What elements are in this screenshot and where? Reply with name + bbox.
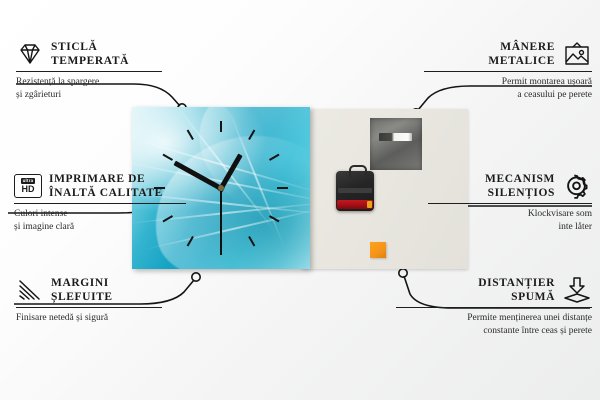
feature-rule	[428, 203, 592, 204]
feature-rule	[424, 71, 592, 72]
feature-desc-line1: Permite menținerea unei distanțe	[392, 312, 592, 325]
feature-foam-spacer: DISTANȚIER SPUMĂ Permite menținerea unei…	[392, 276, 592, 338]
feature-desc-line1: Rezistență la spargere	[16, 76, 166, 89]
hour-tick	[220, 121, 222, 132]
feature-head: MARGINI ȘLEFUITE	[16, 276, 166, 304]
aa-battery	[337, 200, 373, 209]
gear-icon	[562, 173, 592, 199]
feature-title: STICLĂ TEMPERATĂ	[51, 40, 129, 68]
hd-label: HD	[22, 184, 35, 194]
feature-desc-line1: Culori intense	[14, 208, 190, 221]
second-hand	[220, 185, 222, 247]
feature-title: MARGINI ȘLEFUITE	[51, 276, 113, 304]
infographic-stage: STICLĂ TEMPERATĂ Rezistență la spargere …	[0, 0, 600, 400]
hour-tick	[277, 187, 288, 189]
arrow-down-pad-icon	[562, 276, 592, 304]
feature-desc-line2: constante între ceas și perete	[392, 325, 592, 338]
feature-title: DISTANȚIER SPUMĂ	[478, 276, 555, 304]
feature-head: ultra HD IMPRIMARE DE ÎNALTĂ CALITATE	[14, 172, 190, 200]
feature-desc-line2: a ceasului pe perete	[420, 89, 592, 102]
feature-desc-line1: Permit montarea ușoară	[420, 76, 592, 89]
feature-title: MÂNERE METALICE	[488, 40, 555, 68]
ultra-hd-icon: ultra HD	[14, 174, 42, 198]
feature-title: MECANISM SILENȚIOS	[485, 172, 555, 200]
foam-spacer-pad	[370, 242, 386, 258]
diamond-icon	[16, 42, 44, 66]
battery-positive-tip	[367, 201, 372, 208]
hanger-slot	[379, 133, 412, 141]
feature-head: DISTANȚIER SPUMĂ	[392, 276, 592, 304]
feature-desc-line1: Finisare netedă și sigură	[16, 312, 166, 325]
hands-center-cap	[218, 185, 224, 191]
feature-head: MECANISM SILENȚIOS	[424, 172, 592, 200]
bevel-edge-icon	[16, 278, 44, 302]
feature-desc-line1: Klockvisare som	[424, 208, 592, 221]
picture-hanger-icon	[562, 41, 592, 67]
feature-rule	[14, 203, 186, 204]
metal-hanger-plate	[370, 118, 422, 170]
feature-title: IMPRIMARE DE ÎNALTĂ CALITATE	[49, 172, 163, 200]
feature-tempered-glass: STICLĂ TEMPERATĂ Rezistență la spargere …	[16, 40, 166, 102]
feature-head: STICLĂ TEMPERATĂ	[16, 40, 166, 68]
feature-polished-edges: MARGINI ȘLEFUITE Finisare netedă și sigu…	[16, 276, 166, 325]
movement-hanger-loop	[349, 165, 367, 177]
feature-rule	[396, 307, 592, 308]
feature-head: MÂNERE METALICE	[420, 40, 592, 68]
feature-print-quality: ultra HD IMPRIMARE DE ÎNALTĂ CALITATE Cu…	[14, 172, 190, 234]
connector-endpoint-polished-edges	[192, 273, 200, 281]
feature-silent-mechanism: MECANISM SILENȚIOS Klockvisare som inte …	[424, 172, 592, 234]
feature-desc-line2: și imagine clară	[14, 221, 190, 234]
feature-rule	[16, 307, 162, 308]
feature-desc-line2: și zgârieturi	[16, 89, 166, 102]
feature-metal-handles: MÂNERE METALICE Permit montarea ușoară a…	[420, 40, 592, 102]
movement-band	[338, 188, 372, 193]
feature-desc-line2: inte låter	[424, 221, 592, 234]
feature-rule	[16, 71, 162, 72]
clock-movement	[336, 171, 374, 211]
